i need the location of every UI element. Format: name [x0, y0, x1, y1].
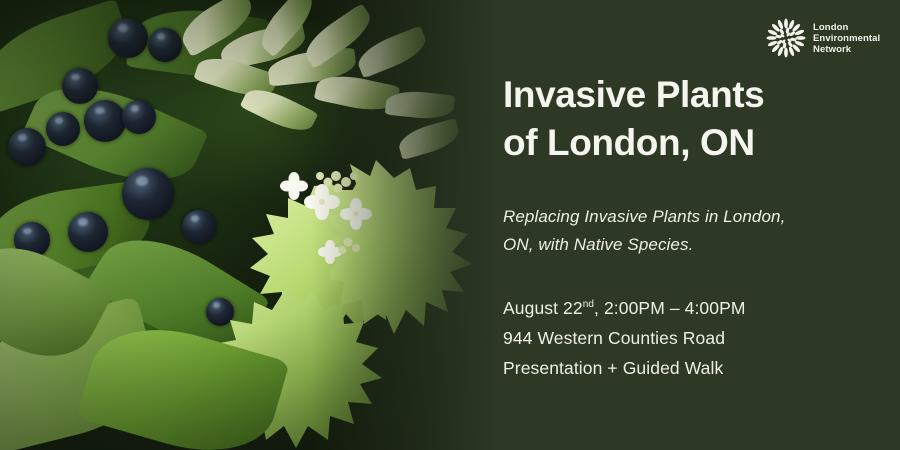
event-datetime: August 22nd, 2:00PM – 4:00PM: [503, 293, 873, 323]
event-address: 944 Western Counties Road: [503, 323, 873, 353]
london-environmental-network-logo[interactable]: London Environmental Network: [766, 18, 880, 58]
event-time: , 2:00PM – 4:00PM: [594, 298, 746, 318]
logo-line-1: London: [813, 22, 880, 33]
event-details: August 22nd, 2:00PM – 4:00PM 944 Western…: [503, 293, 873, 383]
logo-line-3: Network: [813, 44, 880, 55]
subtitle-line-1: Replacing Invasive Plants in London,: [503, 203, 863, 231]
event-format: Presentation + Guided Walk: [503, 353, 873, 383]
starburst-dandelion-icon: [766, 18, 806, 58]
text-panel: London Environmental Network Invasive Pl…: [0, 0, 900, 450]
event-date-prefix: August 22: [503, 298, 583, 318]
logo-wordmark: London Environmental Network: [813, 22, 880, 55]
title-line-2: of London, ON: [503, 119, 893, 167]
subtitle: Replacing Invasive Plants in London, ON,…: [503, 203, 863, 259]
title-line-1: Invasive Plants: [503, 71, 893, 119]
event-banner: London Environmental Network Invasive Pl…: [0, 0, 900, 450]
event-date-ordinal: nd: [583, 299, 594, 310]
logo-line-2: Environmental: [813, 33, 880, 44]
subtitle-line-2: ON, with Native Species.: [503, 231, 863, 259]
page-title: Invasive Plants of London, ON: [503, 71, 893, 167]
